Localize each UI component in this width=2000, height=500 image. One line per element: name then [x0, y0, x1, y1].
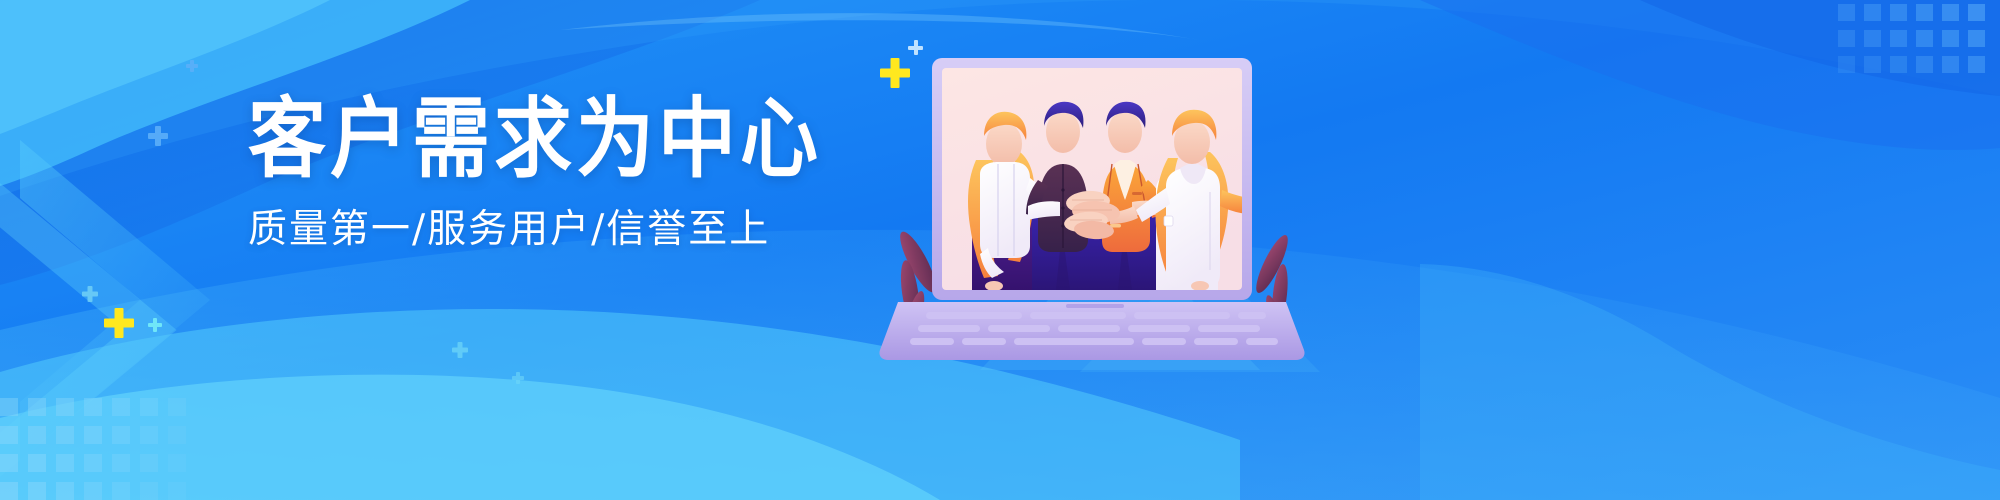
- plus-cyan-mid-icon: [82, 286, 98, 302]
- plus-yellow-bottom-icon: [104, 308, 134, 338]
- plus-cyan-bottom-icon: [148, 318, 162, 332]
- square-grid-top-right: [1838, 4, 1985, 73]
- laptop-hinge: [1066, 304, 1124, 308]
- plus-light-top-icon: [186, 60, 198, 72]
- laptop-team-illustration: [880, 40, 1310, 370]
- banner-headline: 客户需求为中心: [248, 96, 868, 183]
- banner-subline: 质量第一/服务用户/信誉至上: [248, 210, 868, 249]
- laptop-keyboard: [910, 312, 1278, 345]
- plus-light-upper-icon: [148, 126, 168, 146]
- plus-cyan-lowmid-icon: [452, 342, 468, 358]
- dot-grid-bottom-left: [0, 398, 186, 500]
- promo-banner: 客户需求为中心 质量第一/服务用户/信誉至上: [0, 0, 2000, 500]
- banner-text-block: 客户需求为中心 质量第一/服务用户/信誉至上: [248, 96, 868, 249]
- plus-cyan-right-icon: [512, 372, 524, 384]
